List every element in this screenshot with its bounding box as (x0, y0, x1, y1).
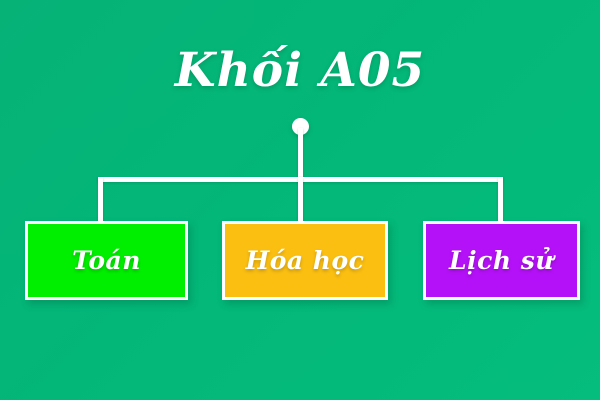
branch-label-history: Lịch sử (449, 246, 554, 276)
diagram-canvas: Khối A05 Toán Hóa học Lịch sử (0, 0, 600, 400)
connector-drop-history (498, 177, 503, 222)
connector-horizontal-bus (98, 177, 503, 182)
root-node-dot-icon (292, 118, 309, 135)
branch-label-chemistry: Hóa học (246, 246, 365, 276)
branch-box-math[interactable]: Toán (25, 221, 188, 300)
connector-stem (298, 128, 303, 182)
connector-drop-chemistry (298, 177, 303, 222)
page-title: Khối A05 (0, 42, 600, 100)
branch-box-chemistry[interactable]: Hóa học (222, 221, 388, 300)
branch-label-math: Toán (72, 246, 141, 276)
branch-box-history[interactable]: Lịch sử (423, 221, 580, 300)
connector-drop-math (98, 177, 103, 222)
